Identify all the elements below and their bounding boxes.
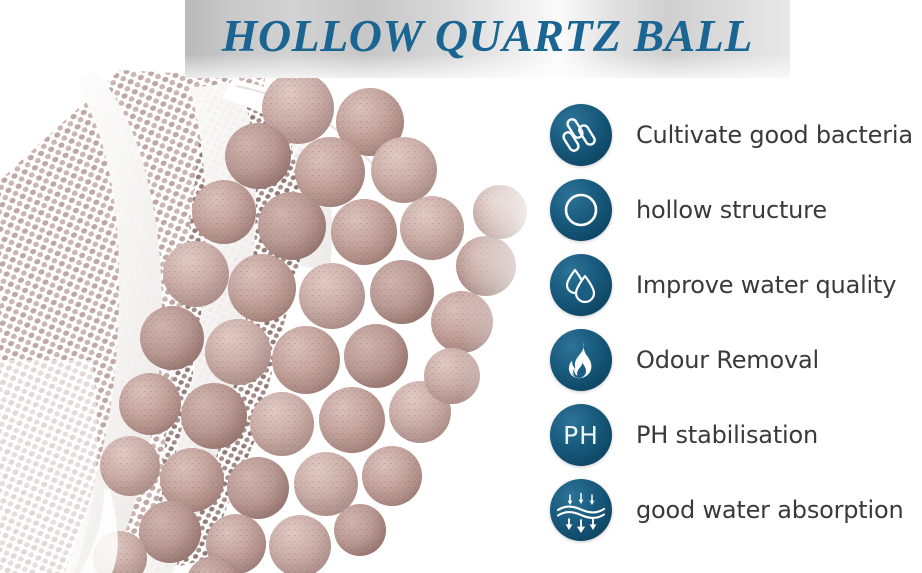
product-photo xyxy=(0,60,540,573)
ph-icon-text: PH xyxy=(563,421,599,450)
feature-row-hollow[interactable]: hollow structure xyxy=(550,178,922,242)
infographic-page: HOLLOW QUARTZ BALL Cultivate good bacter… xyxy=(0,0,922,573)
water-absorption-icon xyxy=(550,479,612,541)
product-photo-image xyxy=(0,60,540,573)
feature-label-bacteria: Cultivate good bacteria xyxy=(636,121,913,149)
flame-icon xyxy=(550,329,612,391)
feature-label-ph: PH stabilisation xyxy=(636,421,818,449)
feature-row-absorption[interactable]: good water absorption xyxy=(550,478,922,542)
feature-row-odour[interactable]: Odour Removal xyxy=(550,328,922,392)
bacteria-icon xyxy=(550,104,612,166)
feature-label-odour: Odour Removal xyxy=(636,346,819,374)
feature-label-absorption: good water absorption xyxy=(636,496,903,524)
feature-label-water-quality: Improve water quality xyxy=(636,271,896,299)
title-banner: HOLLOW QUARTZ BALL xyxy=(185,0,790,78)
feature-row-water-quality[interactable]: Improve water quality xyxy=(550,253,922,317)
water-drops-icon xyxy=(550,254,612,316)
ph-icon: PH xyxy=(550,404,612,466)
page-title: HOLLOW QUARTZ BALL xyxy=(222,14,753,59)
ring-hollow-icon xyxy=(550,179,612,241)
feature-list: Cultivate good bacteria hollow structure xyxy=(550,103,922,563)
feature-label-hollow: hollow structure xyxy=(636,196,827,224)
feature-row-bacteria[interactable]: Cultivate good bacteria xyxy=(550,103,922,167)
feature-row-ph[interactable]: PH PH stabilisation xyxy=(550,403,922,467)
